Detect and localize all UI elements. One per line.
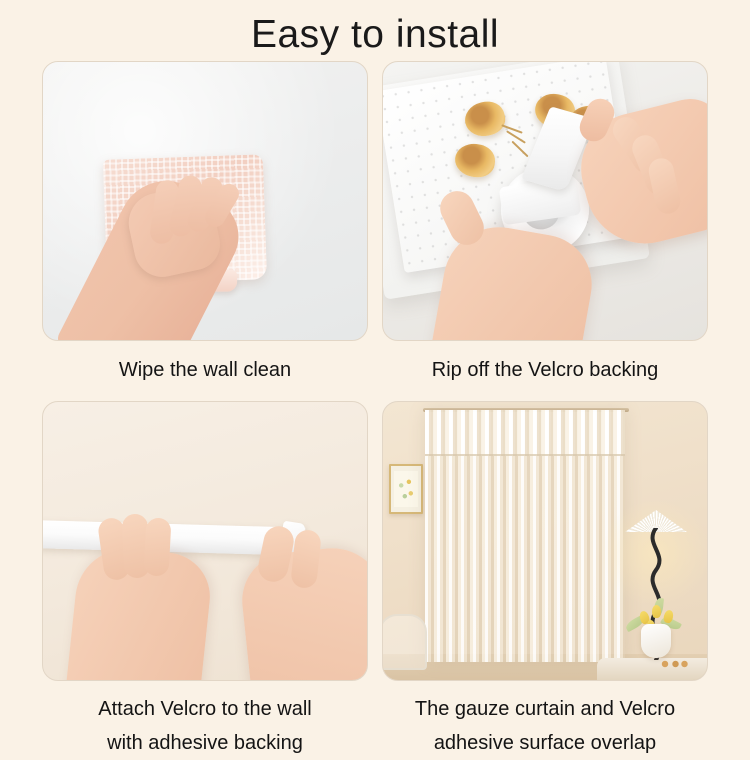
curtain-valance [425,410,625,456]
page-title: Easy to install [0,8,750,62]
step-image-gauze-curtain [382,401,708,681]
framed-picture [389,464,423,514]
side-table [597,658,707,680]
step-image-rip-velcro-backing [382,61,708,341]
steps-grid: Wipe the wall clean [42,61,708,760]
step-card-2: Rip off the Velcro backing [382,61,708,387]
steps-row-bottom: Attach Velcro to the wall with adhesive … [42,401,708,760]
step-card-4: The gauze curtain and Velcro adhesive su… [382,401,708,760]
flower-vase [641,624,671,658]
step-card-1: Wipe the wall clean [42,61,368,387]
chair [382,614,427,670]
decor-nuts [659,660,689,668]
step-caption-1: Wipe the wall clean [42,353,368,387]
step-image-attach-velcro [42,401,368,681]
tulip-flower [652,605,661,618]
step-card-3: Attach Velcro to the wall with adhesive … [42,401,368,760]
step-caption-2: Rip off the Velcro backing [382,353,708,387]
step-image-wipe-wall [42,61,368,341]
steps-row-top: Wipe the wall clean [42,61,708,387]
finger [143,517,171,576]
